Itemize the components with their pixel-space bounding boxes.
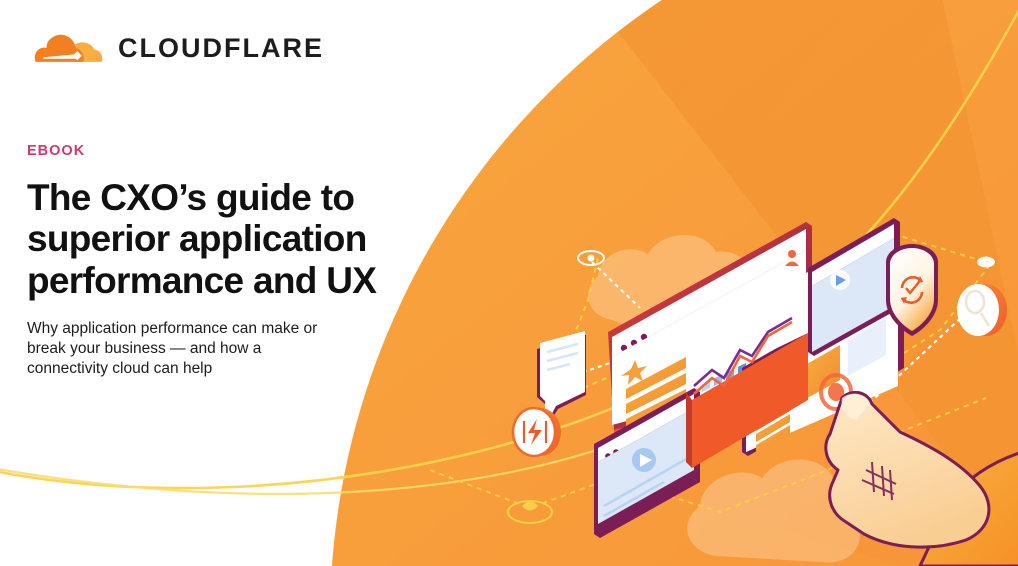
coin-search [957, 284, 1007, 336]
play-icon-1 [830, 270, 850, 290]
brand-logo[interactable]: CLOUDFLARE [26, 28, 324, 68]
page-subtitle: Why application performance can make or … [27, 319, 337, 379]
coin-bolt [513, 408, 561, 456]
eyebrow-label: EBOOK [27, 144, 427, 159]
cloudflare-cloud-logo [26, 28, 104, 68]
brand-wordmark: CLOUDFLARE [118, 35, 324, 62]
play-icon-2 [632, 448, 656, 472]
page-title: The CXO’s guide to superior application … [27, 177, 397, 302]
cover-copy-block: EBOOK The CXO’s guide to superior applic… [27, 144, 427, 379]
ebook-cover-page: CLOUDFLARE EBOOK The CXO’s guide to supe… [0, 0, 1018, 566]
network-node-dot [588, 255, 595, 262]
network-node-topright [978, 258, 994, 267]
